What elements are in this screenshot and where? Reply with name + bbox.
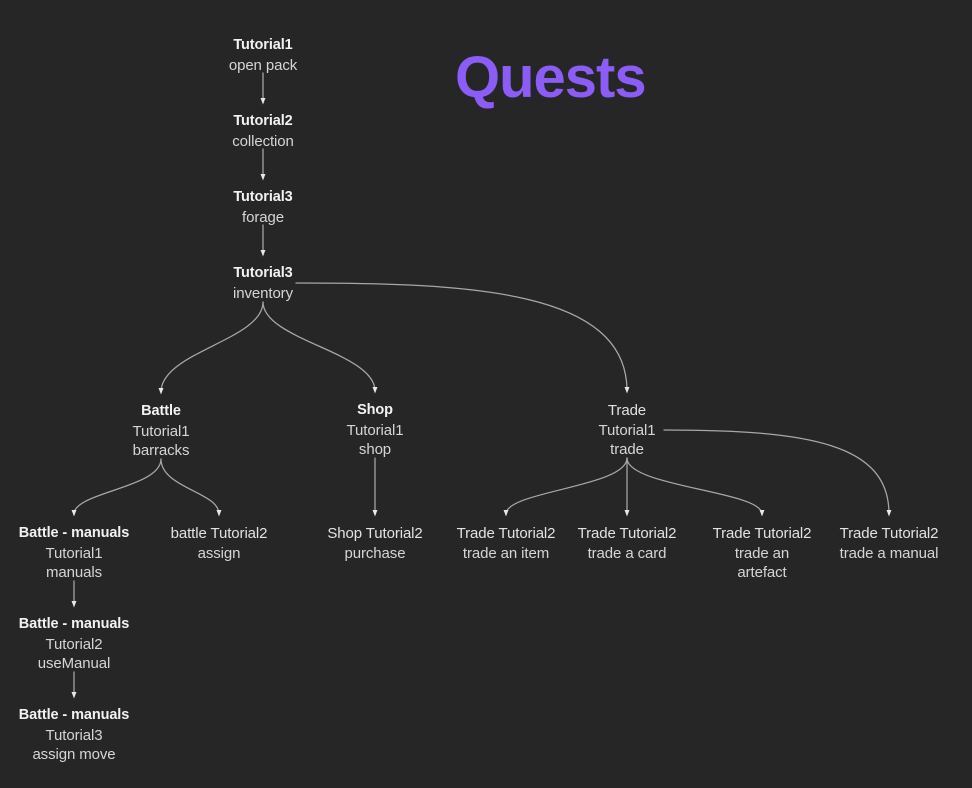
quest-node-title: Trade Tutorial2	[560, 524, 695, 544]
quest-node-subtitle: inventory	[183, 284, 343, 304]
quest-node-n8[interactable]: Battle - manuals Tutorial1 manuals	[0, 524, 149, 583]
quest-node-title: Tutorial3	[183, 188, 343, 208]
quest-node-title: Trade	[552, 401, 702, 421]
quest-node-subtitle: forage	[183, 208, 343, 228]
quest-node-subtitle: open pack	[183, 56, 343, 76]
quest-node-title: Shop	[300, 401, 450, 421]
quest-node-subtitle: trade an	[710, 544, 815, 564]
quest-node-detail: manuals	[0, 563, 149, 583]
quest-node-title: Shop Tutorial2	[300, 524, 450, 544]
quest-node-detail: barracks	[86, 441, 236, 461]
quest-edge	[627, 458, 762, 514]
quest-node-n11[interactable]: Trade Tutorial2 trade an item	[439, 524, 574, 563]
quest-node-subtitle: Tutorial2	[0, 635, 149, 655]
quest-node-title: battle Tutorial2	[144, 524, 294, 544]
quest-node-detail: artefact	[710, 563, 815, 583]
quest-node-n13[interactable]: Trade Tutorial2 trade an artefact	[710, 524, 815, 583]
quest-node-title: Battle - manuals	[0, 615, 149, 635]
quest-edge	[506, 458, 627, 514]
quest-node-n3[interactable]: Tutorial3 forage	[183, 188, 343, 227]
quest-node-title: Tutorial1	[183, 36, 343, 56]
quest-node-detail: assign move	[0, 745, 149, 765]
quest-node-title: Battle	[86, 402, 236, 422]
quest-node-n16[interactable]: Battle - manuals Tutorial3 assign move	[0, 706, 149, 765]
quest-tree-canvas: Quests Tutorial1 open pack Tutorial2 col…	[0, 0, 972, 788]
quest-node-subtitle: Tutorial1	[552, 421, 702, 441]
quest-node-subtitle: purchase	[300, 544, 450, 564]
quest-node-n2[interactable]: Tutorial2 collection	[183, 112, 343, 151]
quest-node-n7[interactable]: Trade Tutorial1 trade	[552, 401, 702, 460]
quest-node-n12[interactable]: Trade Tutorial2 trade a card	[560, 524, 695, 563]
quest-edge	[296, 283, 627, 391]
quest-node-detail: useManual	[0, 654, 149, 674]
quest-node-n4[interactable]: Tutorial3 inventory	[183, 264, 343, 303]
quest-node-n10[interactable]: Shop Tutorial2 purchase	[300, 524, 450, 563]
quest-edge	[161, 302, 263, 392]
quest-node-subtitle: trade a manual	[819, 544, 959, 564]
quest-node-title: Trade Tutorial2	[439, 524, 574, 544]
quest-node-title: Battle - manuals	[0, 524, 149, 544]
quest-node-subtitle: Tutorial1	[86, 422, 236, 442]
quest-node-n14[interactable]: Trade Tutorial2 trade a manual	[819, 524, 959, 563]
quest-node-subtitle: Tutorial3	[0, 726, 149, 746]
quest-node-detail: shop	[300, 440, 450, 460]
quest-node-n6[interactable]: Shop Tutorial1 shop	[300, 401, 450, 460]
quest-node-n5[interactable]: Battle Tutorial1 barracks	[86, 402, 236, 461]
quest-node-n1[interactable]: Tutorial1 open pack	[183, 36, 343, 75]
quest-node-title: Trade Tutorial2	[819, 524, 959, 544]
quest-node-title: Trade Tutorial2	[710, 524, 815, 544]
quest-edge	[263, 302, 375, 391]
quest-node-title: Tutorial2	[183, 112, 343, 132]
quest-node-subtitle: Tutorial1	[300, 421, 450, 441]
quest-node-detail: trade	[552, 440, 702, 460]
quest-node-subtitle: Tutorial1	[0, 544, 149, 564]
quest-node-subtitle: trade a card	[560, 544, 695, 564]
quest-node-title: Battle - manuals	[0, 706, 149, 726]
quest-node-subtitle: trade an item	[439, 544, 574, 564]
quest-node-n9[interactable]: battle Tutorial2 assign	[144, 524, 294, 563]
quest-node-subtitle: assign	[144, 544, 294, 564]
quest-edge	[161, 459, 219, 514]
quest-node-subtitle: collection	[183, 132, 343, 152]
quest-node-title: Tutorial3	[183, 264, 343, 284]
page-title: Quests	[455, 44, 646, 111]
quest-edge	[74, 459, 161, 514]
quest-node-n15[interactable]: Battle - manuals Tutorial2 useManual	[0, 615, 149, 674]
